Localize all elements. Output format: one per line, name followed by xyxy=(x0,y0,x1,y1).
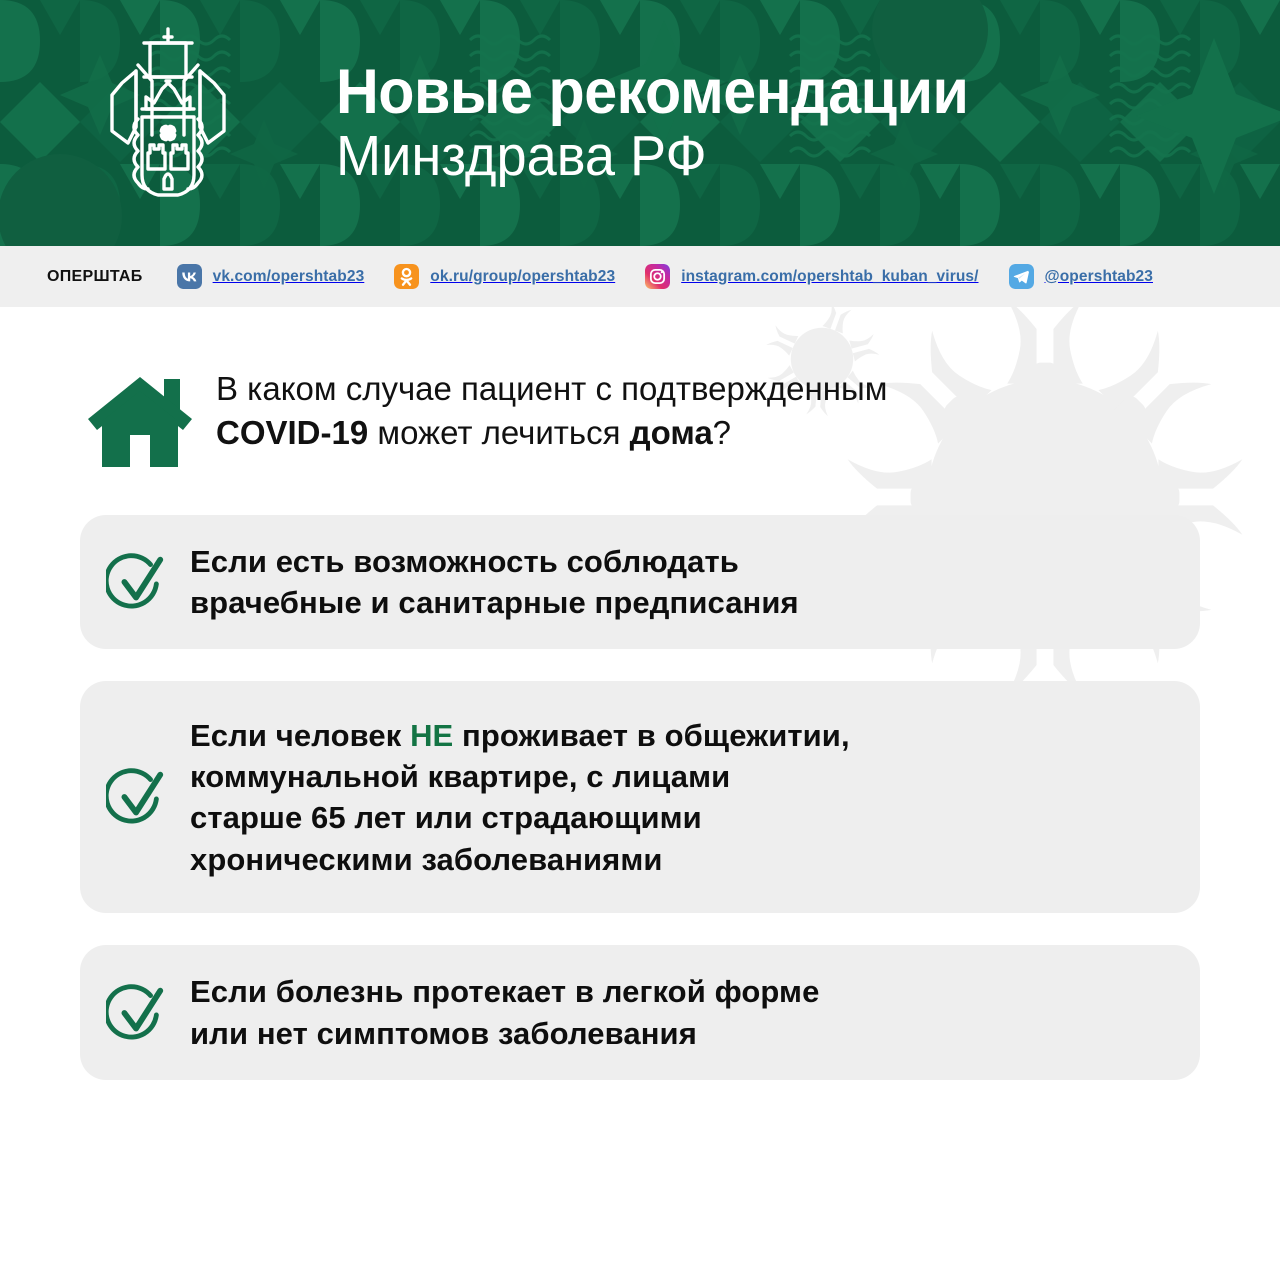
social-link-vk[interactable]: vk.com/opershtab23 xyxy=(177,264,365,289)
page-title: Новые рекомендации xyxy=(336,61,968,124)
check-circle-icon xyxy=(106,551,168,613)
house-icon xyxy=(88,371,192,467)
header-title-block: Новые рекомендации Минздрава РФ xyxy=(336,61,1009,185)
condition-2-negation: НЕ xyxy=(410,718,453,753)
brand-label: ОПЕРШТАБ xyxy=(47,268,143,286)
condition-card-1: Если есть возможность соблюдать врачебны… xyxy=(80,515,1200,649)
condition-3-line-2: или нет симптомов заболевания xyxy=(190,1016,697,1051)
condition-2-line-4: хроническими заболеваниями xyxy=(190,842,663,877)
condition-card-1-text: Если есть возможность соблюдать врачебны… xyxy=(190,541,799,623)
question-text: В каком случае пациент с подтвержденным … xyxy=(216,367,887,455)
instagram-icon xyxy=(645,264,670,289)
odnoklassniki-icon xyxy=(394,264,419,289)
krasnodar-krai-coat-of-arms-icon xyxy=(78,23,258,223)
telegram-icon xyxy=(1009,264,1034,289)
vk-icon xyxy=(177,264,202,289)
social-links-bar: ОПЕРШТАБ vk.com/opershtab23 ok.ru/group/… xyxy=(0,246,1280,307)
check-circle-icon xyxy=(106,982,168,1044)
social-link-ok[interactable]: ok.ru/group/opershtab23 xyxy=(394,264,615,289)
question-line-2-end: ? xyxy=(713,414,731,451)
condition-card-3: Если болезнь протекает в легкой форме ил… xyxy=(80,945,1200,1079)
page-header: Новые рекомендации Минздрава РФ xyxy=(0,0,1280,246)
page-subtitle: Минздрава РФ xyxy=(336,128,975,185)
condition-card-2-text: Если человек НЕ проживает в общежитии, к… xyxy=(190,715,850,880)
main-content: В каком случае пациент с подтвержденным … xyxy=(0,307,1280,1280)
social-link-label-ok: ok.ru/group/opershtab23 xyxy=(430,268,615,286)
social-link-instagram[interactable]: instagram.com/opershtab_kuban_virus/ xyxy=(645,264,978,289)
condition-card-3-text: Если болезнь протекает в легкой форме ил… xyxy=(190,971,819,1053)
question-covid-label: COVID-19 xyxy=(216,414,368,451)
condition-2-line-2: коммунальной квартире, с лицами xyxy=(190,759,730,794)
social-link-label-telegram: @opershtab23 xyxy=(1045,268,1153,286)
condition-1-line-2: врачебные и санитарные предписания xyxy=(190,585,799,620)
condition-3-line-1: Если болезнь протекает в легкой форме xyxy=(190,974,819,1009)
social-link-telegram[interactable]: @opershtab23 xyxy=(1009,264,1153,289)
condition-1-line-1: Если есть возможность соблюдать xyxy=(190,544,739,579)
question-line-1: В каком случае пациент с подтвержденным xyxy=(216,370,887,407)
social-link-label-vk: vk.com/opershtab23 xyxy=(213,268,365,286)
question-block: В каком случае пациент с подтвержденным … xyxy=(0,307,1280,467)
question-home-label: дома xyxy=(630,414,713,451)
conditions-list: Если есть возможность соблюдать врачебны… xyxy=(0,515,1280,1080)
social-link-label-instagram: instagram.com/opershtab_kuban_virus/ xyxy=(681,268,978,286)
condition-2-line-3: старше 65 лет или страдающими xyxy=(190,800,702,835)
question-line-2-mid: может лечиться xyxy=(368,414,629,451)
condition-2-line-1: Если человек НЕ проживает в общежитии, xyxy=(190,718,850,753)
condition-card-2: Если человек НЕ проживает в общежитии, к… xyxy=(80,681,1200,913)
check-circle-icon xyxy=(106,766,168,828)
